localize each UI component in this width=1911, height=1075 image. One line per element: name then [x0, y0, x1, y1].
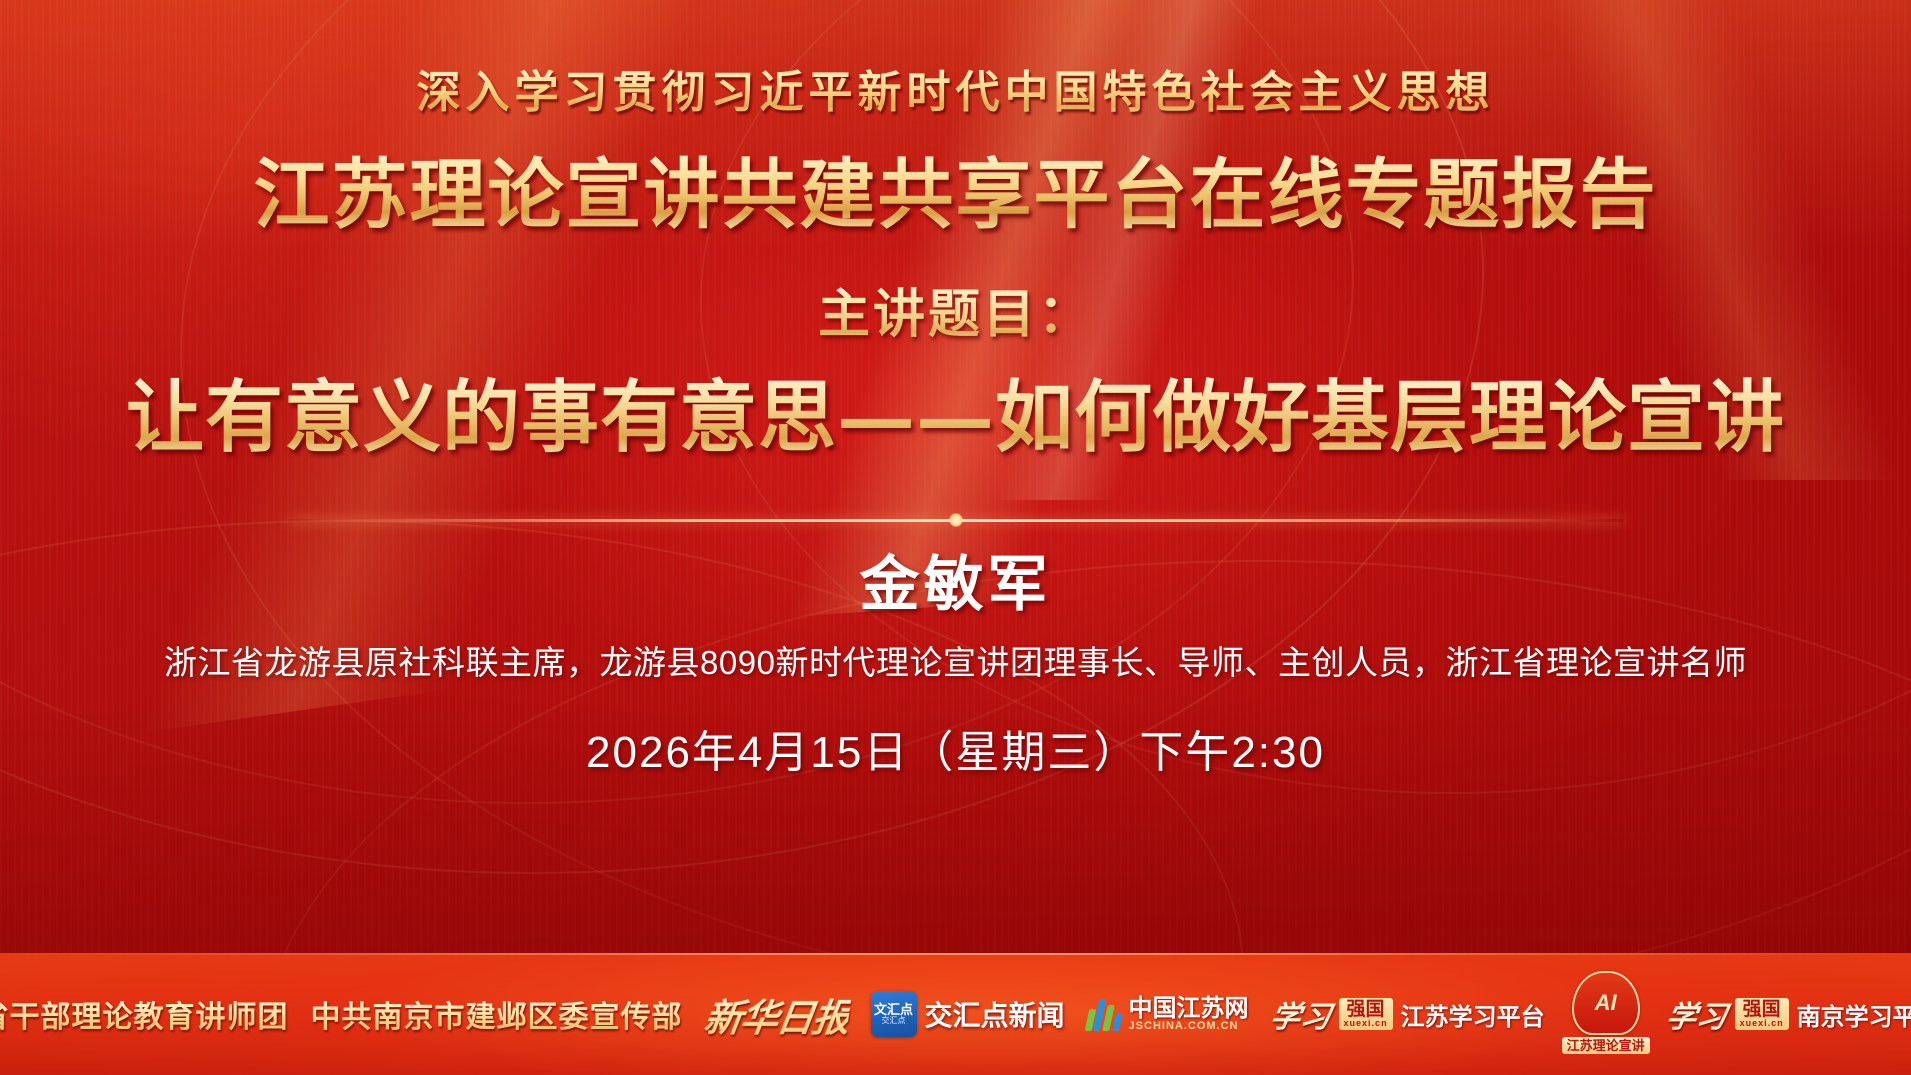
poster-content: 深入学习贯彻习近平新时代中国特色社会主义思想 江苏理论宣讲共建共享平台在线专题报… [0, 0, 1911, 1075]
speaker-name: 金敏军 [0, 536, 1911, 623]
jiaohuidian-badge-label: 文汇点 [874, 1003, 913, 1017]
event-datetime: 2026年4月15日（星期三）下午2:30 [0, 716, 1911, 780]
xuexi-platform-jiangsu: 江苏学习平台 [1401, 997, 1545, 1032]
jschina-url: JSCHINA.COM.CN [1129, 1021, 1249, 1033]
xuexi-box-label-jiangsu: 强国 [1347, 1000, 1385, 1019]
xuexi-brand-nanjing: 学习 [1663, 992, 1731, 1036]
xuexi-brand-jiangsu: 学习 [1267, 992, 1335, 1036]
jiangsu-theory-label: 江苏理论宣讲 [1562, 1037, 1650, 1054]
jiangsu-theory-emblem-letter: AI [1595, 990, 1617, 1016]
sponsor-jianye-propaganda-dept: 中共南京市建邺区委宣传部 [311, 992, 683, 1036]
jiaohuidian-badge-icon: 文汇点 交汇点 [871, 991, 917, 1037]
sponsor-jiangsu-lecturer-group: 江苏省干部理论教育讲师团 [0, 992, 289, 1036]
jiaohuidian-label: 交汇点新闻 [925, 994, 1065, 1034]
poster-canvas: 深入学习贯彻习近平新时代中国特色社会主义思想 江苏理论宣讲共建共享平台在线专题报… [0, 0, 1911, 1075]
page-title: 江苏理论宣讲共建共享平台在线专题报告 [0, 133, 1911, 243]
sponsor-footer: 江苏省干部理论教育讲师团 中共南京市建邺区委宣传部 新华日报 文汇点 交汇点 交… [0, 953, 1911, 1075]
subhead-label: 主讲题目： [0, 272, 1911, 347]
divider-dot-icon [949, 513, 963, 527]
logo-jschina: 中国江苏网 JSCHINA.COM.CN [1087, 996, 1249, 1033]
xuexi-box-jiangsu: 强国 xuexi.cn [1339, 998, 1393, 1030]
logo-xuexi-jiangsu: 学习 强国 xuexi.cn 江苏学习平台 [1271, 992, 1545, 1036]
jiaohuidian-badge-sub: 交汇点 [882, 1017, 906, 1025]
xuexi-box-sub-nanjing: xuexi.cn [1740, 1019, 1784, 1028]
jschina-mark-icon [1087, 997, 1121, 1031]
logo-xuexi-nanjing: 学习 强国 xuexi.cn 南京学习平台 [1667, 992, 1911, 1036]
xuexi-platform-nanjing: 南京学习平台 [1797, 997, 1911, 1032]
lecture-topic: 让有意义的事有意思——如何做好基层理论宣讲 [0, 355, 1911, 467]
eyebrow-slogan: 深入学习贯彻习近平新时代中国特色社会主义思想 [0, 56, 1911, 120]
jschina-text: 中国江苏网 JSCHINA.COM.CN [1129, 996, 1249, 1033]
jiangsu-theory-shield-icon: AI [1572, 971, 1640, 1035]
jschina-label: 中国江苏网 [1129, 996, 1249, 1021]
logo-xinhua-daily: 新华日报 [701, 987, 853, 1042]
speaker-credentials: 浙江省龙游县原社科联主席，龙游县8090新时代理论宣讲团理事长、导师、主创人员，… [0, 636, 1911, 684]
xuexi-box-label-nanjing: 强国 [1743, 1000, 1781, 1019]
xuexi-box-sub-jiangsu: xuexi.cn [1344, 1019, 1388, 1028]
logo-jiaohuidian-news: 文汇点 交汇点 交汇点新闻 [871, 991, 1065, 1037]
xuexi-box-nanjing: 强国 xuexi.cn [1735, 998, 1789, 1030]
logo-jiangsu-theory-lecture: AI 江苏理论宣讲 [1567, 971, 1645, 1057]
